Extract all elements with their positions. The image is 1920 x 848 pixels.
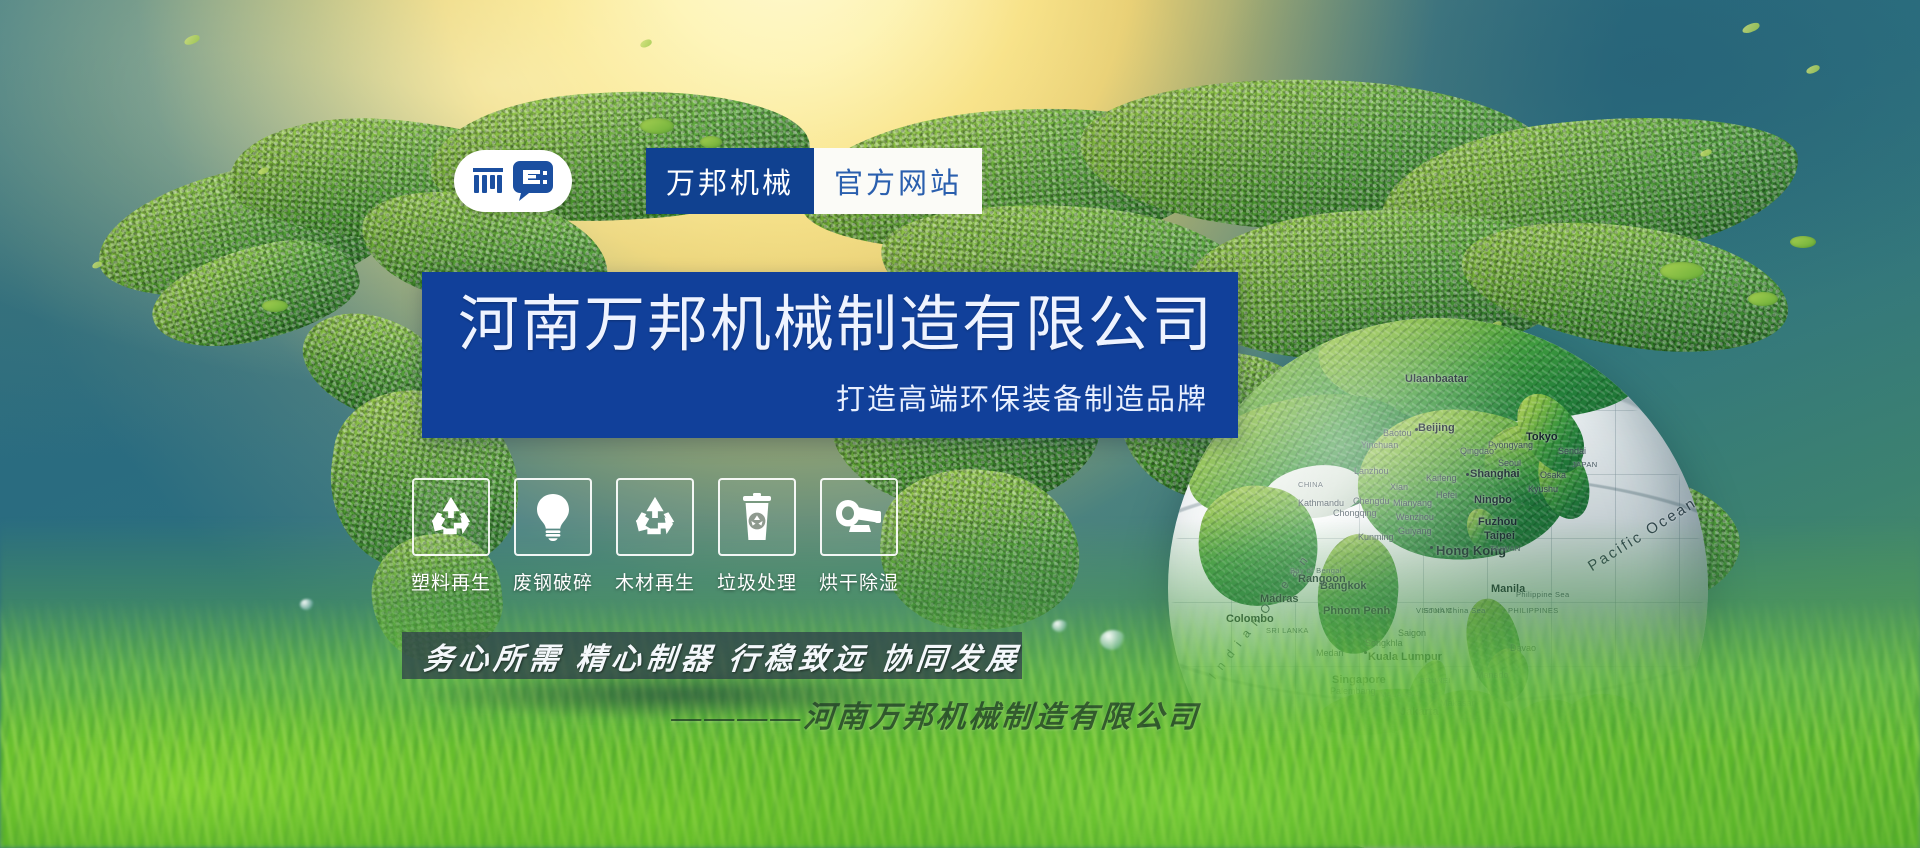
feature-icon-list: 塑料再生 废钢破碎 bbox=[412, 478, 898, 595]
feature-item-scrap-steel-crushing[interactable]: 废钢破碎 bbox=[514, 478, 592, 595]
hero-title-box: 河南万邦机械制造有限公司 打造高端环保装备制造品牌 bbox=[422, 272, 1238, 438]
globe-city-label: Ningbo bbox=[1474, 494, 1512, 506]
globe-city-label: Baotou bbox=[1383, 428, 1412, 438]
feature-label: 烘干除湿 bbox=[819, 568, 899, 595]
globe-country-label: CHINA bbox=[1298, 480, 1323, 489]
wanbang-logo[interactable] bbox=[454, 150, 572, 212]
feature-item-drying-dehumidifying[interactable]: 烘干除湿 bbox=[820, 478, 898, 595]
feature-icon-box bbox=[412, 478, 490, 556]
feature-icon-box bbox=[718, 478, 796, 556]
globe-city-label: Xian bbox=[1390, 482, 1408, 492]
feature-icon-box bbox=[820, 478, 898, 556]
feature-label: 木材再生 bbox=[615, 568, 695, 595]
globe-city-label: Osaka bbox=[1540, 470, 1566, 480]
globe-city-label: Yinchuan bbox=[1361, 440, 1398, 450]
globe-country-label: JAPAN bbox=[1572, 460, 1598, 469]
globe-city-label: Shanghai bbox=[1470, 468, 1520, 480]
logo-w-icon bbox=[471, 166, 505, 196]
globe-city-label: Mianyang bbox=[1393, 498, 1432, 508]
tab-official-site[interactable]: 官方网站 bbox=[814, 148, 982, 214]
feature-icon-box bbox=[514, 478, 592, 556]
lightbulb-icon bbox=[535, 493, 571, 541]
globe-city-label: Hefei bbox=[1436, 490, 1457, 500]
slogan-attribution: ————河南万邦机械制造有限公司 bbox=[670, 692, 1202, 736]
globe-city-label: Chongqing bbox=[1333, 508, 1377, 518]
globe-city-label: Ulaanbaatar bbox=[1405, 373, 1468, 385]
recycle-icon bbox=[428, 495, 474, 539]
nav-tabs: 万邦机械 官方网站 bbox=[646, 148, 982, 214]
globe-city-label: Sendai bbox=[1558, 446, 1586, 456]
feature-item-plastic-recycling[interactable]: 塑料再生 bbox=[412, 478, 490, 595]
globe-city-label: Pyongyang bbox=[1488, 440, 1533, 450]
globe-city-label: Kyushu bbox=[1528, 484, 1558, 494]
slogan-banner: 务心所需 精心制器 行稳致远 协同发展 bbox=[402, 632, 1022, 679]
dryer-blower-icon bbox=[835, 498, 883, 536]
recycle-icon bbox=[632, 495, 678, 539]
dew-drop bbox=[1100, 630, 1126, 650]
dew-drop bbox=[300, 599, 314, 610]
page-title: 河南万邦机械制造有限公司 bbox=[458, 294, 1214, 355]
logo-b-bubble-icon bbox=[511, 159, 555, 203]
globe-city-label: Lanzhou bbox=[1354, 466, 1389, 476]
globe-city-label: Kaifeng bbox=[1426, 473, 1457, 483]
globe-city-label: Seoul bbox=[1498, 458, 1521, 468]
feature-icon-box bbox=[616, 478, 694, 556]
globe-city-label: Beijing bbox=[1418, 422, 1455, 434]
globe-city-label: Chengdu bbox=[1353, 496, 1390, 506]
globe-city-label: Kathmandu bbox=[1298, 498, 1344, 508]
page-subtitle: 打造高端环保装备制造品牌 bbox=[836, 376, 1208, 418]
trash-bin-recycle-icon bbox=[740, 493, 774, 541]
feature-item-waste-treatment[interactable]: 垃圾处理 bbox=[718, 478, 796, 595]
feature-label: 废钢破碎 bbox=[513, 568, 593, 595]
feature-item-wood-recycling[interactable]: 木材再生 bbox=[616, 478, 694, 595]
dew-drop bbox=[1052, 620, 1068, 632]
feature-label: 塑料再生 bbox=[411, 568, 491, 595]
slogan-text: 务心所需 精心制器 行稳致远 协同发展 bbox=[422, 634, 1024, 678]
brand-bar: 万邦机械 官方网站 bbox=[454, 148, 982, 214]
feature-label: 垃圾处理 bbox=[717, 568, 797, 595]
hero-banner: Pacific Ocean I n d i a n O c e a n Hong… bbox=[0, 0, 1920, 848]
tab-company[interactable]: 万邦机械 bbox=[646, 148, 814, 214]
